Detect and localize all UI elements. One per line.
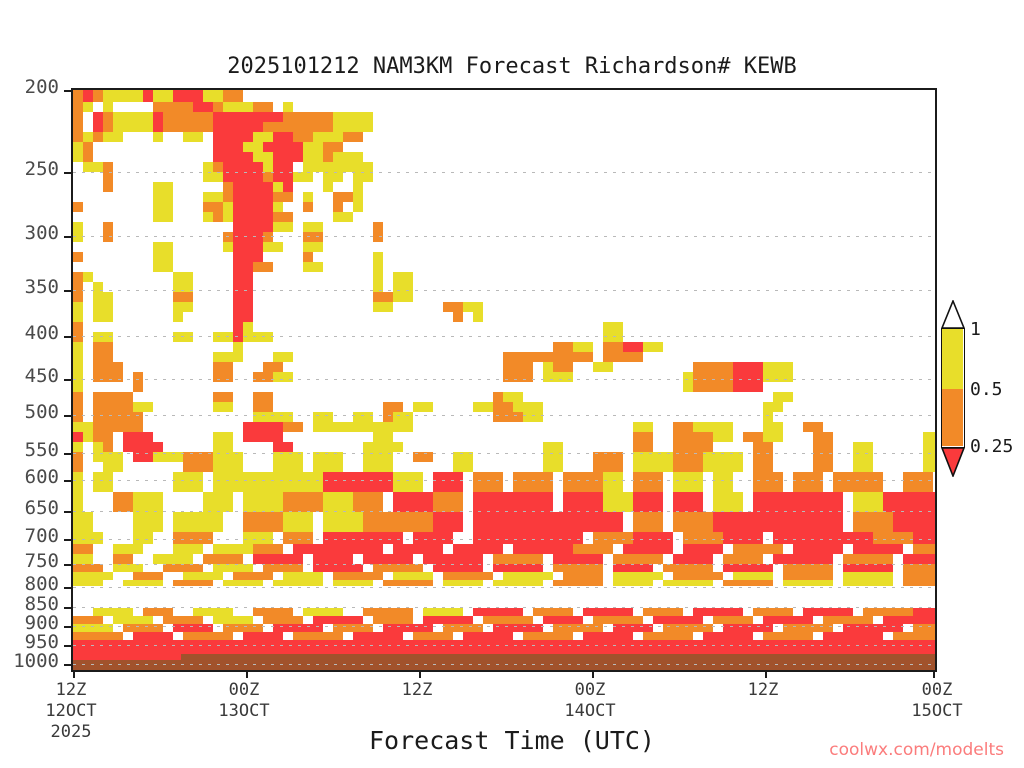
heatmap-cell bbox=[463, 632, 513, 640]
heatmap-cell bbox=[853, 544, 903, 554]
heatmap-cell bbox=[143, 90, 153, 102]
heatmap-cell bbox=[333, 544, 383, 554]
heatmap-cell bbox=[803, 422, 823, 432]
heatmap-cell bbox=[173, 544, 203, 554]
heatmap-cell bbox=[283, 492, 323, 512]
heatmap-cell bbox=[433, 564, 483, 572]
heatmap-cell bbox=[393, 492, 433, 512]
heatmap-cell bbox=[553, 554, 603, 564]
heatmap-cell bbox=[133, 492, 163, 512]
heatmap-cell bbox=[513, 544, 573, 554]
heatmap-cell bbox=[103, 102, 113, 112]
heatmap-cell bbox=[283, 422, 303, 432]
heatmap-cell bbox=[223, 232, 233, 242]
heatmap-cell bbox=[873, 532, 913, 544]
heatmap-cell bbox=[323, 142, 343, 152]
heatmap-cell bbox=[293, 172, 313, 182]
heatmap-cell bbox=[103, 222, 113, 242]
heatmap-cell bbox=[223, 142, 243, 152]
heatmap-cell bbox=[623, 544, 673, 554]
heatmap-cell bbox=[223, 212, 233, 222]
heatmap-cell bbox=[373, 252, 383, 272]
heatmap-cell bbox=[133, 632, 173, 640]
heatmap-cell bbox=[253, 544, 283, 554]
heatmap-cell bbox=[203, 192, 223, 202]
y-axis-tick bbox=[64, 379, 73, 381]
heatmap-cell bbox=[233, 212, 273, 222]
heatmap-cell bbox=[493, 564, 543, 572]
gridline bbox=[73, 511, 935, 512]
heatmap-cell bbox=[153, 182, 173, 192]
gridline bbox=[73, 539, 935, 540]
heatmap-cell bbox=[303, 262, 323, 272]
heatmap-cell bbox=[313, 132, 343, 142]
heatmap-cell bbox=[603, 352, 643, 362]
y-axis-tick-label: 1000 bbox=[13, 650, 59, 672]
heatmap-cell bbox=[353, 182, 363, 192]
heatmap-cell bbox=[203, 554, 243, 564]
heatmap-cell bbox=[823, 616, 873, 624]
colorbar-arrow-below bbox=[941, 447, 965, 477]
heatmap-cell bbox=[613, 572, 663, 580]
heatmap-cell bbox=[633, 472, 663, 492]
heatmap-cell bbox=[223, 162, 263, 172]
heatmap-cell bbox=[673, 554, 713, 564]
x-axis-tick-label: 00Z15OCT bbox=[877, 680, 997, 721]
heatmap-cell bbox=[913, 608, 935, 616]
heatmap-cell bbox=[333, 572, 383, 580]
heatmap-cell bbox=[93, 312, 113, 322]
x-axis-tick bbox=[246, 670, 248, 678]
heatmap-cell bbox=[103, 112, 113, 122]
heatmap-cell bbox=[333, 212, 353, 222]
heatmap-cell bbox=[73, 512, 93, 532]
gridline bbox=[73, 379, 935, 380]
heatmap-cell bbox=[703, 632, 753, 640]
heatmap-cell bbox=[243, 422, 263, 442]
heatmap-cell bbox=[603, 472, 623, 492]
heatmap-cell bbox=[363, 512, 403, 532]
y-axis-tick bbox=[64, 415, 73, 417]
heatmap-cell bbox=[223, 192, 233, 202]
heatmap-cell bbox=[203, 212, 213, 222]
heatmap-cell bbox=[263, 232, 273, 242]
heatmap-cell bbox=[273, 352, 293, 362]
heatmap-cell bbox=[563, 572, 603, 580]
x-tick-time: 00Z bbox=[184, 680, 304, 700]
heatmap-cell bbox=[93, 292, 113, 312]
y-axis-tick bbox=[64, 453, 73, 455]
heatmap-cell bbox=[733, 544, 783, 554]
heatmap-cell bbox=[153, 112, 163, 122]
heatmap-cell bbox=[433, 492, 463, 512]
heatmap-cell bbox=[73, 342, 83, 362]
gridline bbox=[73, 480, 935, 481]
heatmap-cell bbox=[113, 554, 133, 564]
heatmap-cell bbox=[303, 162, 323, 172]
heatmap-cell bbox=[233, 572, 273, 580]
heatmap-cell bbox=[323, 172, 343, 182]
heatmap-cell bbox=[373, 564, 423, 572]
heatmap-cell bbox=[473, 472, 503, 492]
heatmap-cell bbox=[513, 492, 553, 512]
heatmap-cell bbox=[763, 362, 793, 372]
heatmap-cell bbox=[73, 564, 103, 572]
heatmap-cell bbox=[303, 152, 323, 162]
heatmap-cell bbox=[253, 412, 273, 422]
heatmap-cell bbox=[303, 112, 333, 122]
heatmap-cell bbox=[793, 492, 843, 512]
heatmap-cell bbox=[113, 492, 133, 512]
heatmap-cell bbox=[343, 132, 363, 142]
heatmap-cell bbox=[473, 512, 533, 532]
heatmap-cell bbox=[263, 422, 283, 442]
heatmap-cell bbox=[573, 512, 623, 532]
heatmap-cell bbox=[223, 102, 253, 112]
heatmap-cell bbox=[73, 492, 83, 512]
heatmap-cell bbox=[73, 452, 83, 472]
x-axis-tick-label: 12Z bbox=[703, 680, 823, 700]
heatmap-cell bbox=[353, 162, 373, 172]
y-axis-tick bbox=[64, 172, 73, 174]
colorbar-tick-label: 1 bbox=[970, 319, 981, 340]
heatmap-cell bbox=[673, 572, 723, 580]
heatmap-cell bbox=[93, 112, 103, 122]
heatmap-cell bbox=[443, 572, 493, 580]
heatmap-cell bbox=[73, 554, 93, 564]
heatmap-cell bbox=[393, 282, 413, 302]
heatmap-cell bbox=[373, 292, 393, 302]
heatmap-cell bbox=[243, 142, 263, 152]
heatmap-cell bbox=[273, 372, 293, 382]
heatmap-cell bbox=[153, 192, 173, 222]
heatmap-cell bbox=[323, 472, 353, 492]
heatmap-cell bbox=[213, 452, 243, 472]
heatmap-cell bbox=[713, 472, 733, 492]
heatmap-cell bbox=[633, 422, 653, 432]
heatmap-cell bbox=[433, 512, 463, 532]
heatmap-cell bbox=[633, 452, 673, 472]
heatmap-cell bbox=[913, 532, 935, 544]
y-axis-tick bbox=[64, 664, 73, 666]
heatmap-cell bbox=[893, 632, 935, 640]
heatmap-cell bbox=[553, 564, 603, 572]
colorbar-segment bbox=[942, 389, 963, 446]
heatmap-cell bbox=[73, 112, 83, 132]
gridline bbox=[73, 626, 935, 627]
heatmap-cell bbox=[773, 392, 793, 402]
heatmap-cell bbox=[593, 616, 643, 624]
heatmap-cell bbox=[303, 202, 313, 212]
x-axis-tick-label: 00Z13OCT bbox=[184, 680, 304, 721]
y-axis-tick bbox=[64, 236, 73, 238]
heatmap-cell bbox=[253, 472, 293, 492]
heatmap-cell bbox=[693, 372, 733, 392]
heatmap-cell bbox=[763, 402, 783, 412]
heatmap-cell bbox=[453, 312, 463, 322]
heatmap-cell bbox=[913, 544, 935, 554]
gridline bbox=[73, 172, 935, 173]
heatmap-cell bbox=[473, 312, 483, 322]
heatmap-cell bbox=[173, 292, 193, 302]
heatmap-cell bbox=[843, 572, 893, 580]
heatmap-cell bbox=[723, 532, 763, 544]
heatmap-cell bbox=[73, 392, 83, 412]
heatmap-cell bbox=[233, 242, 263, 252]
heatmap-cell bbox=[393, 544, 443, 554]
y-axis-tick bbox=[64, 539, 73, 541]
heatmap-cell bbox=[243, 492, 283, 512]
colorbar-tick-label: 0.25 bbox=[970, 436, 1013, 457]
heatmap-cell bbox=[563, 472, 603, 492]
heatmap-cell bbox=[153, 132, 163, 142]
heatmap-cell bbox=[363, 442, 403, 452]
heatmap-cell bbox=[673, 512, 713, 532]
heatmap-cell bbox=[323, 492, 353, 512]
heatmap-cell bbox=[113, 564, 143, 572]
heatmap-cell bbox=[293, 132, 313, 142]
heatmap-cell bbox=[713, 616, 753, 624]
heatmap-cell bbox=[243, 512, 283, 532]
heatmap-cell bbox=[213, 544, 253, 554]
heatmap-cell bbox=[903, 554, 935, 564]
x-axis-tick bbox=[933, 670, 935, 678]
heatmap-cell bbox=[203, 492, 233, 512]
heatmap-cell bbox=[503, 392, 523, 402]
heatmap-cell bbox=[293, 544, 333, 554]
heatmap-cell bbox=[473, 492, 513, 512]
heatmap-cell bbox=[333, 152, 363, 162]
heatmap-cell bbox=[183, 632, 233, 640]
heatmap-cell bbox=[723, 554, 763, 564]
y-axis-tick-label: 800 bbox=[25, 573, 59, 595]
heatmap-cell bbox=[473, 532, 533, 544]
y-axis-tick-label: 700 bbox=[25, 525, 59, 547]
heatmap-cell bbox=[903, 572, 935, 580]
gridline bbox=[73, 415, 935, 416]
heatmap-cell bbox=[73, 222, 83, 242]
gridline bbox=[73, 664, 935, 665]
heatmap-cell bbox=[603, 492, 633, 512]
heatmap-cell bbox=[363, 452, 393, 472]
heatmap-cell bbox=[293, 632, 343, 640]
heatmap-cell bbox=[723, 564, 773, 572]
heatmap-cell bbox=[273, 212, 293, 222]
heatmap-cell bbox=[423, 608, 463, 616]
heatmap-cell bbox=[223, 90, 243, 102]
heatmap-cell bbox=[303, 242, 323, 252]
heatmap-cell bbox=[523, 352, 563, 362]
y-axis-tick bbox=[64, 645, 73, 647]
y-axis-tick-label: 450 bbox=[25, 365, 59, 387]
heatmap-cell bbox=[373, 272, 383, 292]
heatmap-cell bbox=[263, 362, 283, 372]
page-title: 2025101212 NAM3KM Forecast Richardson# K… bbox=[0, 54, 1024, 79]
heatmap-cell bbox=[713, 512, 753, 532]
heatmap-cell bbox=[213, 392, 233, 402]
heatmap-cell bbox=[93, 122, 103, 132]
heatmap-cell bbox=[303, 608, 343, 616]
heatmap-cell bbox=[423, 554, 483, 564]
heatmap-cell bbox=[753, 452, 773, 472]
heatmap-cell bbox=[73, 362, 83, 392]
x-tick-time: 12Z bbox=[357, 680, 477, 700]
heatmap-cell bbox=[273, 152, 303, 162]
heatmap-cell bbox=[333, 112, 373, 122]
heatmap-cell bbox=[283, 572, 323, 580]
heatmap-cell bbox=[683, 544, 723, 554]
heatmap-cell bbox=[183, 572, 223, 580]
heatmap-cell bbox=[133, 372, 143, 392]
heatmap-cell bbox=[773, 532, 813, 544]
heatmap-cell bbox=[863, 608, 913, 616]
heatmap-cell bbox=[903, 564, 935, 572]
heatmap-cell bbox=[613, 564, 653, 572]
y-axis-tick bbox=[64, 511, 73, 513]
heatmap-cell bbox=[353, 632, 403, 640]
heatmap-cell bbox=[73, 142, 83, 162]
heatmap-cell bbox=[483, 616, 533, 624]
heatmap-cell bbox=[73, 90, 83, 102]
heatmap-cell bbox=[223, 202, 233, 212]
heatmap-cell bbox=[273, 162, 293, 172]
heatmap-cell bbox=[303, 142, 323, 152]
heatmap-cell bbox=[93, 132, 103, 142]
heatmap-cell bbox=[453, 452, 473, 472]
heatmap-cell bbox=[613, 554, 663, 564]
y-axis-tick bbox=[64, 607, 73, 609]
heatmap-cell bbox=[363, 532, 403, 544]
heatmap-cell bbox=[223, 182, 233, 192]
heatmap-cell bbox=[73, 632, 123, 640]
gridline bbox=[73, 336, 935, 337]
y-axis-tick-label: 650 bbox=[25, 497, 59, 519]
heatmap-cell bbox=[303, 222, 323, 232]
heatmap-cell bbox=[163, 122, 213, 132]
heatmap-cell bbox=[563, 352, 593, 362]
y-axis-tick-label: 600 bbox=[25, 466, 59, 488]
colorbar: 10.50.25 bbox=[941, 300, 965, 476]
heatmap-cell bbox=[233, 292, 253, 302]
heatmap-cell bbox=[503, 352, 523, 362]
heatmap-cell bbox=[213, 132, 223, 142]
heatmap-cell bbox=[113, 122, 153, 132]
heatmap-cell bbox=[593, 452, 623, 472]
heatmap-cell bbox=[213, 332, 233, 342]
heatmap-cell bbox=[193, 608, 233, 616]
colorbar-body bbox=[941, 328, 965, 448]
heatmap-cell bbox=[153, 90, 173, 102]
heatmap-cell bbox=[353, 172, 373, 182]
heatmap-cell bbox=[333, 122, 373, 132]
heatmap-cell bbox=[93, 392, 133, 412]
heatmap-cell bbox=[563, 492, 603, 512]
heatmap-cell bbox=[543, 372, 573, 382]
heatmap-cell bbox=[763, 422, 783, 442]
heatmap-cell bbox=[333, 202, 343, 212]
heatmap-cell bbox=[673, 452, 703, 472]
heatmap-cell bbox=[693, 362, 733, 372]
heatmap-cell bbox=[503, 372, 523, 382]
heatmap-cell bbox=[813, 452, 833, 472]
heatmap-cell bbox=[313, 422, 363, 432]
heatmap-cell bbox=[473, 402, 493, 412]
heatmap-cell bbox=[363, 554, 413, 564]
y-axis-tick-label: 500 bbox=[25, 401, 59, 423]
heatmap-cell bbox=[173, 332, 193, 342]
heatmap-cell bbox=[783, 564, 833, 572]
heatmap-cell bbox=[93, 608, 133, 616]
heatmap-cell bbox=[223, 172, 263, 182]
gridline bbox=[73, 587, 935, 588]
heatmap-cell bbox=[153, 122, 163, 132]
heatmap-cell bbox=[233, 232, 263, 242]
y-axis-tick bbox=[64, 336, 73, 338]
heatmap-cell bbox=[503, 572, 553, 580]
heatmap-cell bbox=[203, 162, 213, 172]
gridline bbox=[73, 564, 935, 565]
heatmap-cell bbox=[423, 616, 473, 624]
heatmap-cell bbox=[753, 472, 783, 492]
heatmap-cell bbox=[263, 122, 283, 132]
heatmap-cell bbox=[323, 512, 363, 532]
heatmap-cell bbox=[273, 222, 293, 232]
heatmap-cell bbox=[253, 332, 273, 342]
gridline bbox=[73, 236, 935, 237]
heatmap-cell bbox=[263, 242, 283, 252]
x-axis-tick-label: 00Z14OCT bbox=[530, 680, 650, 721]
heatmap-cell bbox=[213, 616, 253, 624]
heatmap-cell bbox=[373, 302, 393, 312]
heatmap-cell bbox=[543, 616, 583, 624]
heatmap-canvas bbox=[73, 90, 935, 670]
heatmap-cell bbox=[673, 492, 703, 512]
heatmap-cell bbox=[243, 322, 253, 342]
heatmap-cell bbox=[763, 632, 813, 640]
heatmap-cell bbox=[803, 608, 853, 616]
heatmap-cell bbox=[253, 392, 273, 412]
heatmap-cell bbox=[83, 132, 93, 142]
x-tick-time: 12Z bbox=[703, 680, 823, 700]
heatmap-cell bbox=[753, 492, 793, 512]
heatmap-cell bbox=[73, 322, 83, 342]
heatmap-cell bbox=[103, 162, 113, 192]
gridline bbox=[73, 645, 935, 646]
heatmap-cell bbox=[163, 616, 203, 624]
heatmap-cell bbox=[73, 616, 103, 624]
heatmap-cell bbox=[73, 202, 83, 212]
heatmap-cell bbox=[733, 362, 763, 372]
heatmap-cell bbox=[473, 608, 523, 616]
heatmap-cell bbox=[893, 512, 935, 532]
heatmap-cell bbox=[853, 492, 883, 512]
gridline bbox=[73, 290, 935, 291]
heatmap-cell bbox=[533, 608, 573, 616]
heatmap-cell bbox=[83, 272, 93, 282]
x-axis-tick-label: 12Z bbox=[357, 680, 477, 700]
heatmap-cell bbox=[233, 312, 253, 322]
heatmap-cell bbox=[233, 342, 243, 362]
heatmap-cell bbox=[883, 616, 935, 624]
heatmap-cell bbox=[303, 232, 323, 242]
y-axis-tick-label: 200 bbox=[25, 76, 59, 98]
heatmap-cell bbox=[373, 616, 413, 624]
heatmap-cell bbox=[203, 512, 223, 532]
heatmap-cell bbox=[73, 544, 93, 554]
heatmap-cell bbox=[213, 112, 283, 122]
heatmap-cell bbox=[853, 452, 873, 472]
heatmap-cell bbox=[273, 192, 293, 202]
